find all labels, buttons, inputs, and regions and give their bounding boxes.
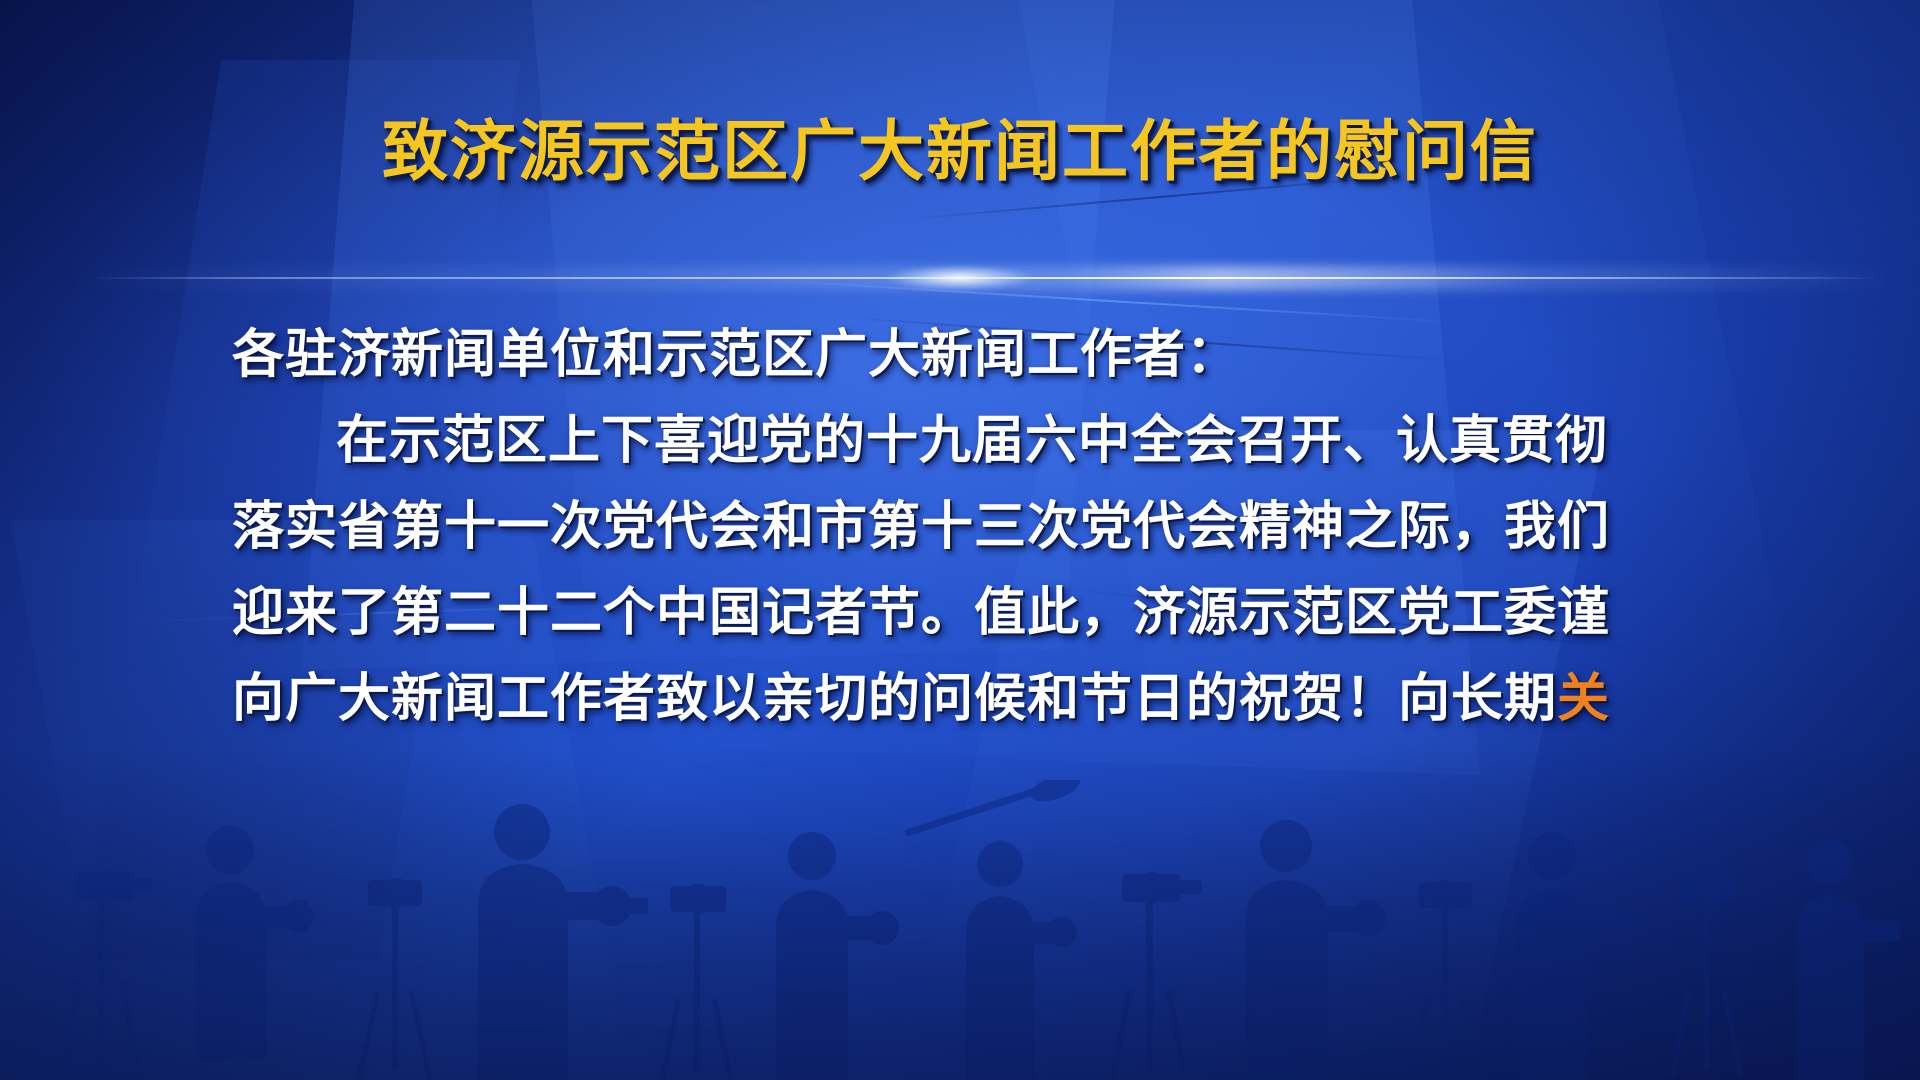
letter-line-1: 在示范区上下喜迎党的十九届六中全会召开、认真贯彻	[232, 398, 1712, 484]
letter-line-2: 落实省第十一次党代会和市第十三次党代会精神之际，我们	[232, 484, 1712, 570]
letter-line-4: 向广大新闻工作者致以亲切的问候和节日的祝贺！向长期关	[232, 656, 1712, 742]
broadcast-graphic-slide: 致济源示范区广大新闻工作者的慰问信 各驻济新闻单位和示范区广大新闻工作者： 在示…	[0, 0, 1920, 1080]
page-title: 致济源示范区广大新闻工作者的慰问信	[0, 108, 1920, 194]
letter-body: 各驻济新闻单位和示范区广大新闻工作者： 在示范区上下喜迎党的十九届六中全会召开、…	[232, 312, 1712, 742]
letter-salutation: 各驻济新闻单位和示范区广大新闻工作者：	[232, 312, 1712, 398]
letter-line-4-text: 向广大新闻工作者致以亲切的问候和节日的祝贺！向长期	[232, 670, 1557, 728]
letter-line-4-partial-char: 关	[1557, 670, 1610, 728]
letter-line-3: 迎来了第二十二个中国记者节。值此，济源示范区党工委谨	[232, 570, 1712, 656]
